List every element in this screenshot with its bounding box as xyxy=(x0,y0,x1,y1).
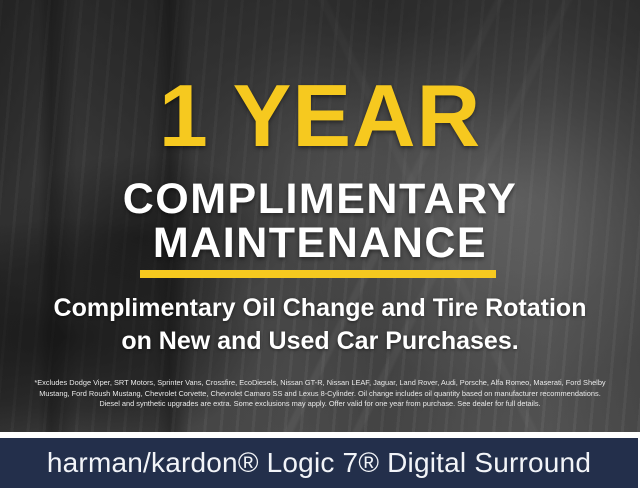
fineprint-line-1: *Excludes Dodge Viper, SRT Motors, Sprin… xyxy=(14,378,626,389)
feature-bar: harman/kardon® Logic 7® Digital Surround xyxy=(0,438,640,488)
fineprint-line-2: Mustang, Ford Roush Mustang, Chevrolet C… xyxy=(14,389,626,400)
headline-complimentary: COMPLIMENTARY xyxy=(0,178,640,221)
offer-description: Complimentary Oil Change and Tire Rotati… xyxy=(18,292,622,358)
yellow-divider-rule xyxy=(140,270,496,278)
headline-maintenance: MAINTENANCE xyxy=(0,222,640,265)
hero-content: 1 YEAR COMPLIMENTARY MAINTENANCE Complim… xyxy=(0,0,640,432)
feature-bar-label: harman/kardon® Logic 7® Digital Surround xyxy=(47,448,591,478)
offer-line-2: on New and Used Car Purchases. xyxy=(18,325,622,358)
offer-line-1: Complimentary Oil Change and Tire Rotati… xyxy=(18,292,622,325)
promo-banner: 1 YEAR COMPLIMENTARY MAINTENANCE Complim… xyxy=(0,0,640,488)
hero-panel: 1 YEAR COMPLIMENTARY MAINTENANCE Complim… xyxy=(0,0,640,432)
headline-year: 1 YEAR xyxy=(0,72,640,160)
legal-fineprint: *Excludes Dodge Viper, SRT Motors, Sprin… xyxy=(14,378,626,410)
fineprint-line-3: Diesel and synthetic upgrades are extra.… xyxy=(14,399,626,410)
